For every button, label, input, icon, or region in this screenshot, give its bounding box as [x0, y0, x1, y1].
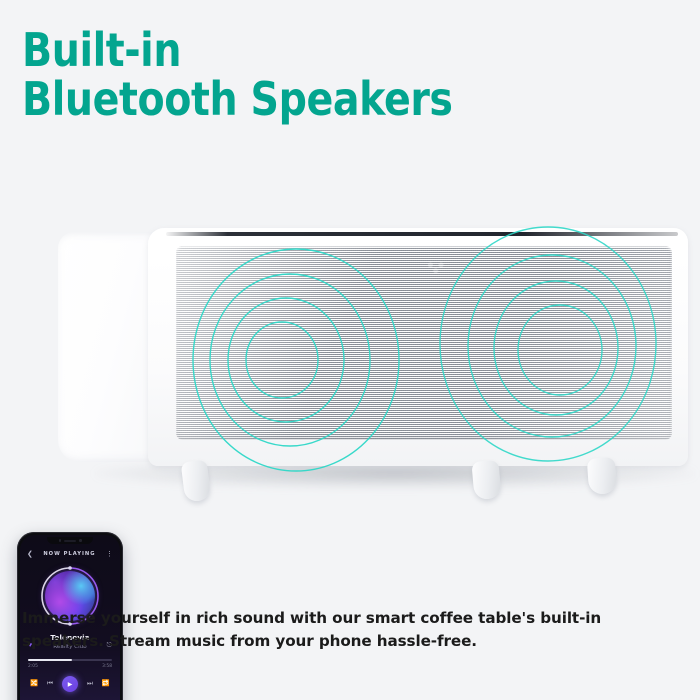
product-marketing-poster: Built-in Bluetooth Speakers	[0, 0, 700, 700]
total-time: 3:58	[102, 664, 112, 669]
table-leg	[471, 460, 501, 500]
player-topbar: ❮ NOW PLAYING ⋮	[20, 547, 120, 561]
phone-notch	[47, 537, 93, 544]
repeat-icon[interactable]: 🔁	[102, 681, 110, 688]
table-leg	[181, 460, 212, 503]
next-track-icon[interactable]: ⏭	[87, 681, 93, 688]
table-top-edge	[166, 232, 678, 236]
page-title: Built-in Bluetooth Speakers	[22, 26, 572, 124]
shuffle-icon[interactable]: 🔀	[30, 681, 38, 688]
playback-controls: 🔀 ⏮ ▶ ⏭ 🔁	[20, 676, 120, 692]
table-leg	[587, 457, 617, 495]
playback-progress-bar[interactable]	[28, 659, 112, 661]
speaker-grille	[176, 246, 672, 440]
chevron-left-icon[interactable]: ❮	[27, 551, 33, 558]
kebab-menu-icon[interactable]: ⋮	[106, 551, 113, 558]
caption-text: Immerse yourself in rich sound with our …	[22, 607, 678, 653]
playback-progress-fill	[28, 659, 72, 661]
camera-icon	[59, 539, 62, 542]
speaker-control-buttons	[422, 255, 450, 277]
previous-track-icon[interactable]: ⏮	[47, 681, 53, 688]
sensor-icon	[79, 539, 82, 542]
product-scene: ❮ NOW PLAYING ⋮ Telenovia Reality Club ♥	[0, 180, 700, 560]
player-title: NOW PLAYING	[43, 551, 95, 557]
play-button[interactable]: ▶	[62, 676, 78, 692]
earpiece-speaker-icon	[64, 540, 76, 542]
elapsed-time: 2:05	[28, 664, 38, 669]
